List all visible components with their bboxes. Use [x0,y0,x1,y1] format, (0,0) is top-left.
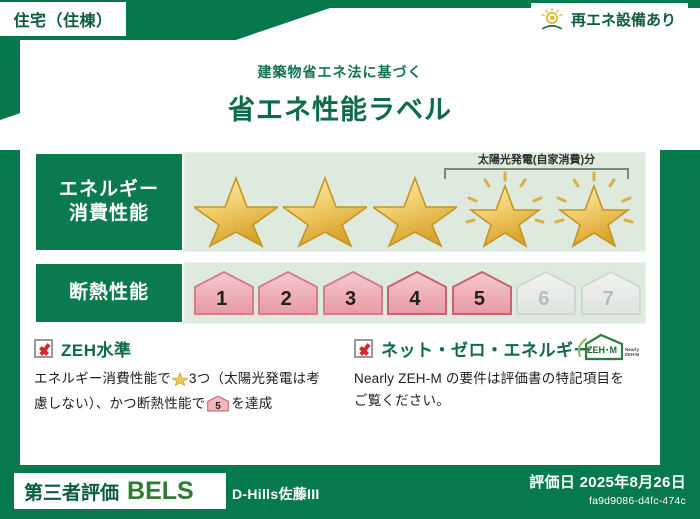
evaluation-date: 評価日 2025年8月26日 [529,471,686,492]
insulation-row-key: 断熱性能 [34,262,184,324]
energy-row-key-line1: エネルギー [59,178,159,202]
note-zeh-text-4: を達成 [231,396,272,411]
grade-number: 6 [538,288,549,316]
energy-row-key: エネルギー 消費性能 [34,152,184,252]
energy-performance-row: エネルギー 消費性能 太陽光発電(自家消費)分 [34,152,646,252]
grade-number: 1 [216,288,227,316]
red-check-icon [34,339,53,358]
building-type-label: 住宅（住棟） [13,7,112,31]
svg-text:ZEH･M: ZEH･M [587,345,617,355]
page-title: 省エネ性能ラベル [20,88,660,127]
grade-number: 5 [474,288,485,316]
house-grade-icon: 7 [580,270,637,316]
house-grade-icon: 5 [207,395,229,412]
house-grade-icon: 1 [193,270,250,316]
gold-star-sparkle-icon [463,170,547,248]
star-rating [191,171,639,247]
house-grade-icon: 6 [515,270,572,316]
gold-star-icon [283,170,367,248]
note-zeh-header: ZEH水準 [34,336,328,361]
note-zeh-text-2: 3つ（太陽光発電 [189,371,293,386]
insulation-performance-row: 断熱性能 [34,262,646,324]
note-net-zero-energy: ネット・ゼロ・エネルギー ZEH･M Nearly ZEH-M Nearly Z… [340,336,646,448]
label-body: 建築物省エネ法に基づく 省エネ性能ラベル エネルギー 消費性能 太陽光発電(自家… [20,40,660,465]
zeh-m-house-logo: ZEH･M Nearly ZEH-M [574,332,640,364]
note-nze-title: ネット・ゼロ・エネルギー [381,336,591,361]
evaluation-id: fa9d9086-d4fc-474c [529,495,686,507]
red-check-icon [354,339,373,358]
footer-eval-info: 評価日 2025年8月26日 fa9d9086-d4fc-474c [529,471,686,507]
renewable-badge-label: 再エネ設備あり [571,9,676,30]
solar-sun-icon [539,7,565,33]
grade-number: 7 [603,288,614,316]
energy-row-key-line2: 消費性能 [69,202,149,226]
gold-star-sparkle-icon [552,170,636,248]
house-grade-icon: 5 [451,270,508,316]
building-name: D-Hills佐藤III [232,484,320,504]
svg-text:5: 5 [216,401,222,412]
insulation-row-value: 1 2 3 [184,262,646,324]
title-subline: 建築物省エネ法に基づく [20,62,660,82]
bels-chip-en-label: BELS [127,477,194,506]
building-type-chip: 住宅（住棟） [0,2,126,36]
bels-chip: 第三者評価 BELS [14,473,226,509]
house-grade-icon: 2 [257,270,314,316]
gold-star-icon [373,170,457,248]
footer: 第三者評価 BELS D-Hills佐藤III 評価日 2025年8月26日 f… [0,465,700,519]
gold-star-icon [194,170,278,248]
note-nze-body: Nearly ZEH-M の要件は評価書の特記項目をご覧ください。 [354,368,634,413]
note-zeh-standard: ZEH水準 エネルギー消費性能で3つ（太陽光発電は考慮しない）、かつ断熱性能で5… [34,336,340,448]
title-block: 建築物省エネ法に基づく 省エネ性能ラベル [20,62,660,127]
house-grade-icon: 3 [322,270,379,316]
note-zeh-body: エネルギー消費性能で3つ（太陽光発電は考慮しない）、かつ断熱性能で5を達成 [34,368,328,416]
note-zeh-title: ZEH水準 [61,336,132,361]
house-grade-icon: 4 [386,270,443,316]
grade-number: 4 [409,288,420,316]
note-zeh-text-1: エネルギー消費性能で [34,371,171,386]
gold-star-icon [172,371,188,393]
grade-number: 3 [345,288,356,316]
insulation-row-key-label: 断熱性能 [69,281,149,305]
insulation-grade-scale: 1 2 3 [193,267,637,319]
renewable-equipment-badge: 再エネ設備あり [531,3,688,36]
energy-performance-label: 住宅（住棟） 再エネ設備あり 建築物省エネ法に基づく 省エネ性能ラベル [0,0,700,519]
grade-number: 2 [281,288,292,316]
energy-row-value: 太陽光発電(自家消費)分 [184,152,646,252]
svg-text:ZEH-M: ZEH-M [625,352,640,357]
bels-chip-jp-label: 第三者評価 [24,478,119,505]
notes-section: ZEH水準 エネルギー消費性能で3つ（太陽光発電は考慮しない）、かつ断熱性能で5… [34,336,646,448]
solar-annotation-label: 太陽光発電(自家消費)分 [444,151,629,167]
